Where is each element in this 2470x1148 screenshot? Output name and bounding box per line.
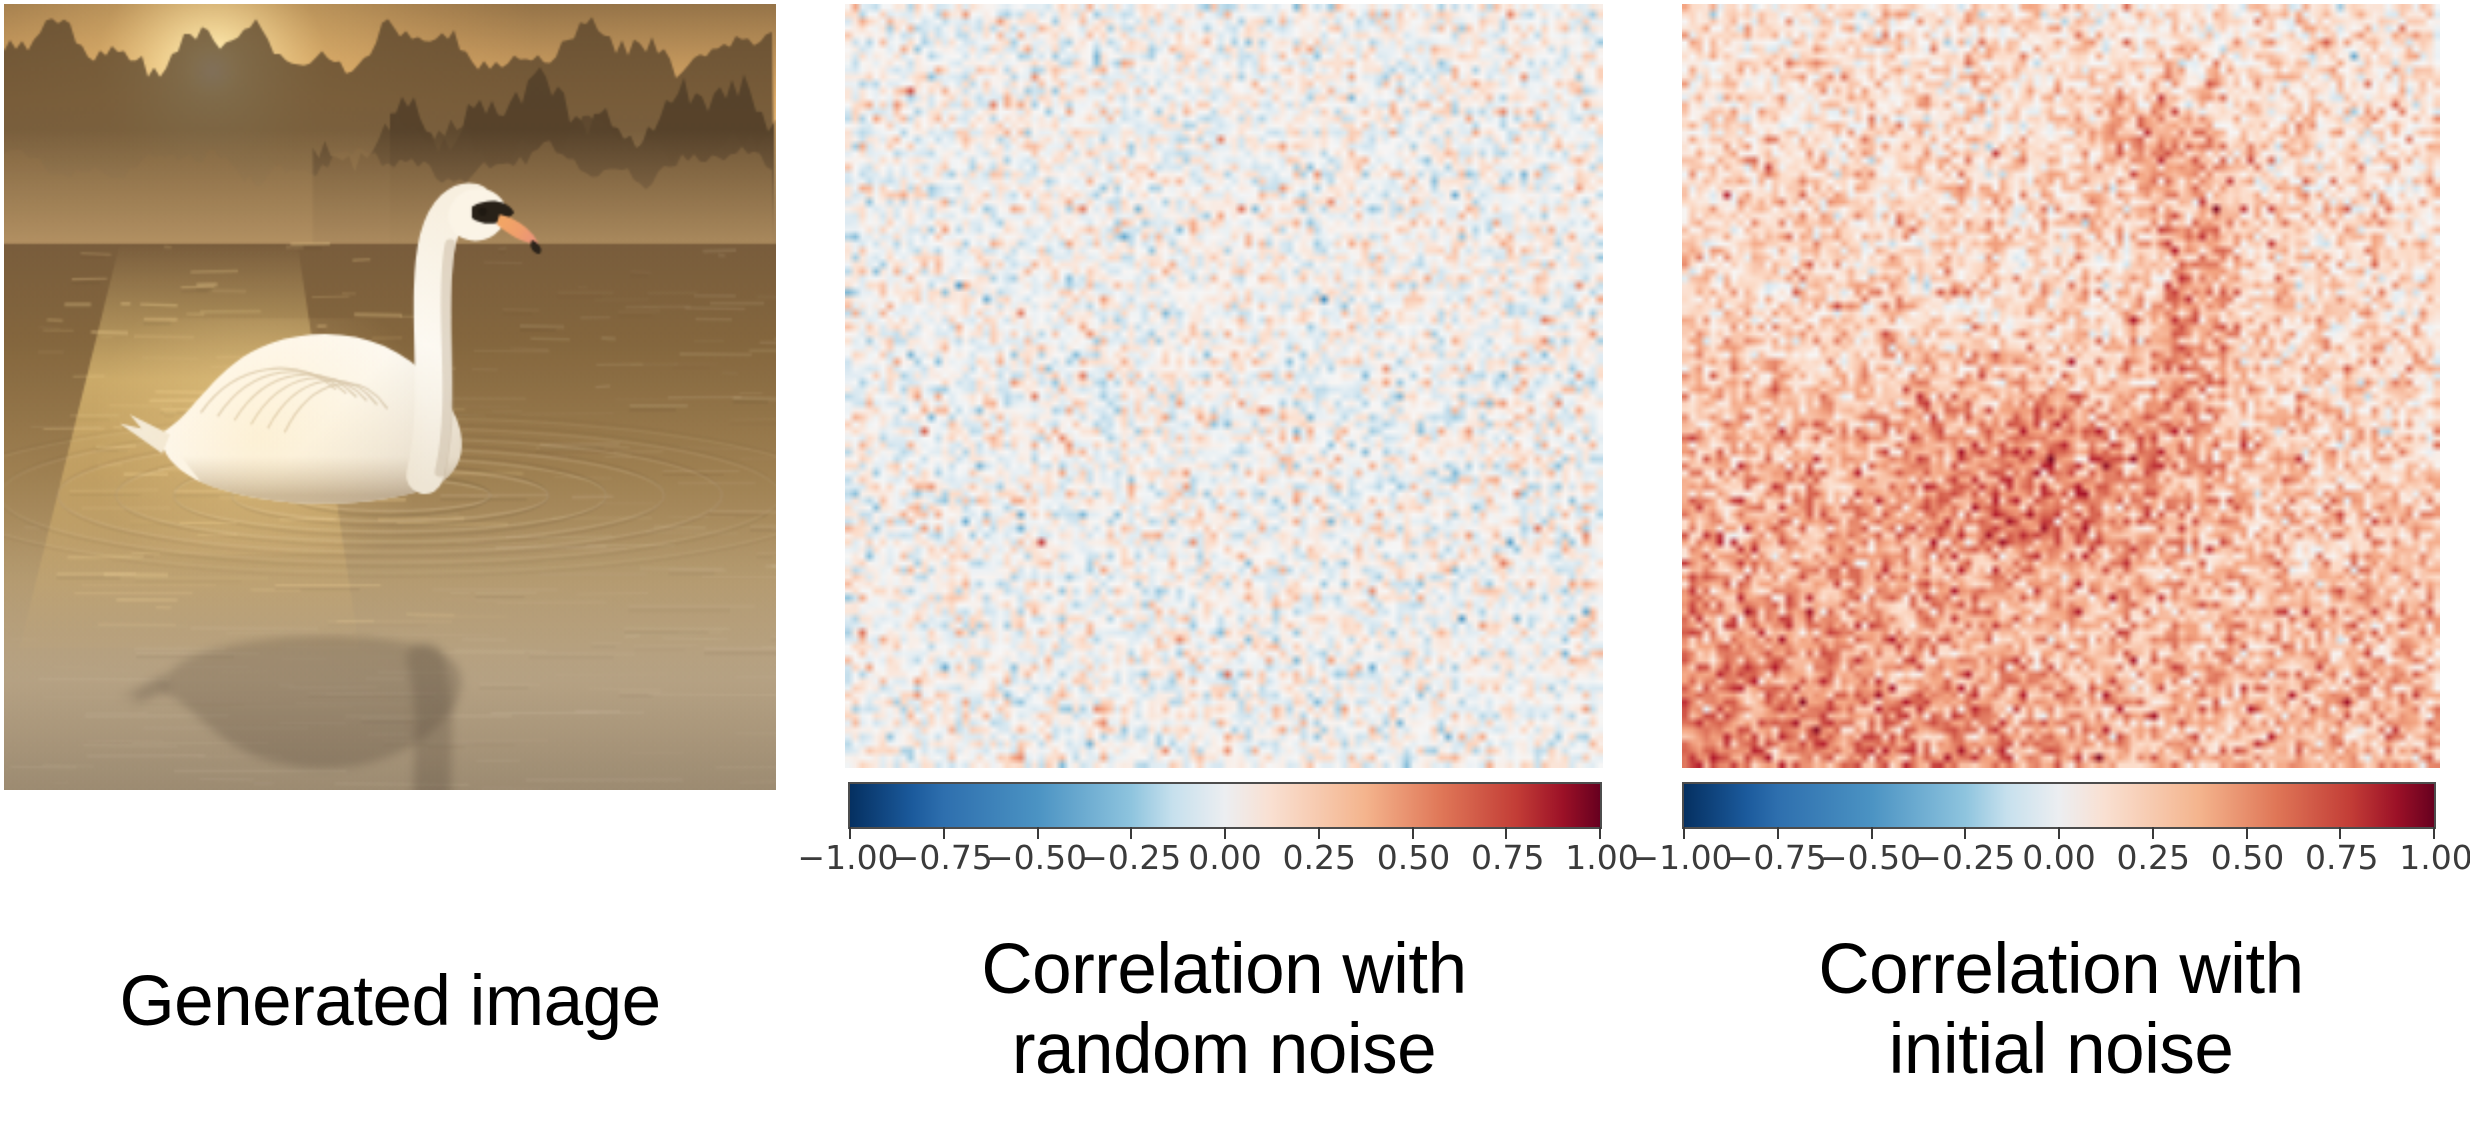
colorbar-tick-label: −1.00 xyxy=(797,841,898,874)
colorbar-tick-label: −0.25 xyxy=(1914,841,2015,874)
correlation-random-noise-heatmap xyxy=(845,4,1603,768)
colorbar-gradient-initial xyxy=(1682,782,2436,829)
colorbar-tick-label: −1.00 xyxy=(1631,841,1732,874)
colorbar-tick-label: 0.75 xyxy=(1471,841,1544,874)
colorbar-tick-labels-initial: −1.00−0.75−0.50−0.250.000.250.500.751.00 xyxy=(1682,841,2436,881)
colorbar-tick-label: 0.25 xyxy=(2117,841,2190,874)
colorbar-tick-label: 0.50 xyxy=(1377,841,1450,874)
colorbar-tick-label: 0.00 xyxy=(2022,841,2095,874)
colorbar-tick-label: 0.25 xyxy=(1283,841,1356,874)
generated-image-panel xyxy=(4,4,776,790)
caption-line: random noise xyxy=(845,1010,1603,1090)
heatmap-random-canvas xyxy=(845,4,1603,768)
colorbar-tick-label: 0.00 xyxy=(1188,841,1261,874)
colorbar-tick-label: −0.75 xyxy=(1726,841,1827,874)
colorbar-tick-label: 1.00 xyxy=(1565,841,1638,874)
colorbar-tick-labels-random: −1.00−0.75−0.50−0.250.000.250.500.751.00 xyxy=(848,841,1602,881)
caption-correlation-initial-noise: Correlation with initial noise xyxy=(1682,930,2440,1089)
colorbar-tick-label: −0.25 xyxy=(1080,841,1181,874)
correlation-initial-noise-heatmap xyxy=(1682,4,2440,768)
colorbar-tick-label: 0.50 xyxy=(2211,841,2284,874)
colorbar-tick-label: 0.75 xyxy=(2305,841,2378,874)
caption-generated-image: Generated image xyxy=(4,962,776,1042)
caption-correlation-random-noise: Correlation with random noise xyxy=(845,930,1603,1089)
caption-line: Correlation with xyxy=(845,930,1603,1010)
colorbar-initial-noise: −1.00−0.75−0.50−0.250.000.250.500.751.00 xyxy=(1682,782,2436,882)
heatmap-initial-canvas xyxy=(1682,4,2440,768)
caption-line: Generated image xyxy=(4,962,776,1042)
colorbar-tick-label: −0.50 xyxy=(986,841,1087,874)
generated-image-canvas xyxy=(4,4,776,790)
figure-root: −1.00−0.75−0.50−0.250.000.250.500.751.00… xyxy=(0,0,2470,1148)
colorbar-tick-label: −0.75 xyxy=(892,841,993,874)
caption-line: initial noise xyxy=(1682,1010,2440,1090)
colorbar-random-noise: −1.00−0.75−0.50−0.250.000.250.500.751.00 xyxy=(848,782,1602,882)
colorbar-tick-label: −0.50 xyxy=(1820,841,1921,874)
colorbar-tick-label: 1.00 xyxy=(2399,841,2470,874)
caption-line: Correlation with xyxy=(1682,930,2440,1010)
colorbar-gradient-random xyxy=(848,782,1602,829)
